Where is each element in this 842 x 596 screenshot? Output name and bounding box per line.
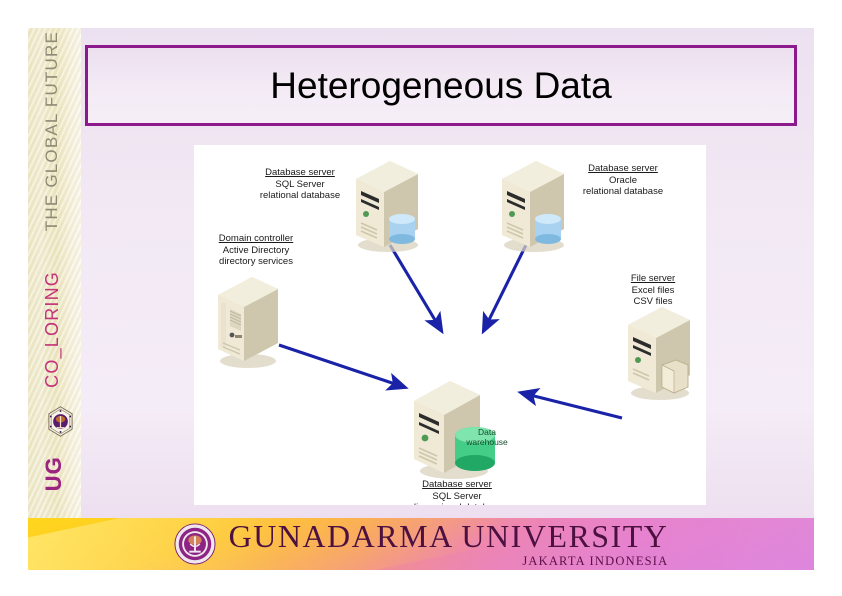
footer-university-name: GUNADARMA UNIVERSITY — [229, 520, 669, 552]
node-label-file-server: File server Excel files CSV files — [594, 273, 706, 308]
node-label-oracle: Database server Oracle relational databa… — [564, 163, 682, 198]
footer-location: JAKARTA INDONESIA — [522, 554, 668, 569]
tower-server-with-database-icon — [490, 157, 572, 257]
arrow-dc-to-warehouse — [279, 345, 404, 387]
slide-footer: GUNADARMA UNIVERSITY JAKARTA INDONESIA — [28, 518, 814, 570]
page-title: Heterogeneous Data — [270, 65, 611, 107]
node-label-sql-server: Database server SQL Server relational da… — [241, 167, 359, 202]
arrow-oracle-to-warehouse — [484, 245, 526, 330]
sidebar-ug-text: UG — [41, 456, 67, 491]
slide-title-box: Heterogeneous Data — [85, 45, 797, 126]
node-label-domain-controller: Domain controller Active Directory direc… — [196, 233, 316, 268]
slide-sidebar: THE GLOBAL FUTURE CO_LORING UG — [28, 28, 81, 518]
data-warehouse-cylinder-label: Data warehouse — [455, 427, 519, 447]
presentation-slide: THE GLOBAL FUTURE CO_LORING UG Heterogen… — [28, 28, 814, 570]
sidebar-coloring-text: CO_LORING — [42, 271, 63, 388]
tower-server-icon — [208, 273, 286, 373]
footer-content: GUNADARMA UNIVERSITY JAKARTA INDONESIA — [28, 518, 814, 570]
diagram-canvas: Database server SQL Server relational da… — [194, 145, 706, 505]
arrow-fileserver-to-warehouse — [522, 393, 622, 418]
footer-text-block: GUNADARMA UNIVERSITY JAKARTA INDONESIA — [229, 520, 669, 569]
gunadarma-seal-icon — [174, 523, 216, 565]
node-label-data-warehouse-server: Database server SQL Server dimensional d… — [390, 479, 524, 505]
arrow-sql-to-warehouse — [390, 245, 441, 330]
ug-seal-icon — [45, 406, 76, 437]
tower-server-with-folder-icon — [618, 303, 700, 405]
sidebar-tagline: THE GLOBAL FUTURE — [42, 31, 62, 231]
